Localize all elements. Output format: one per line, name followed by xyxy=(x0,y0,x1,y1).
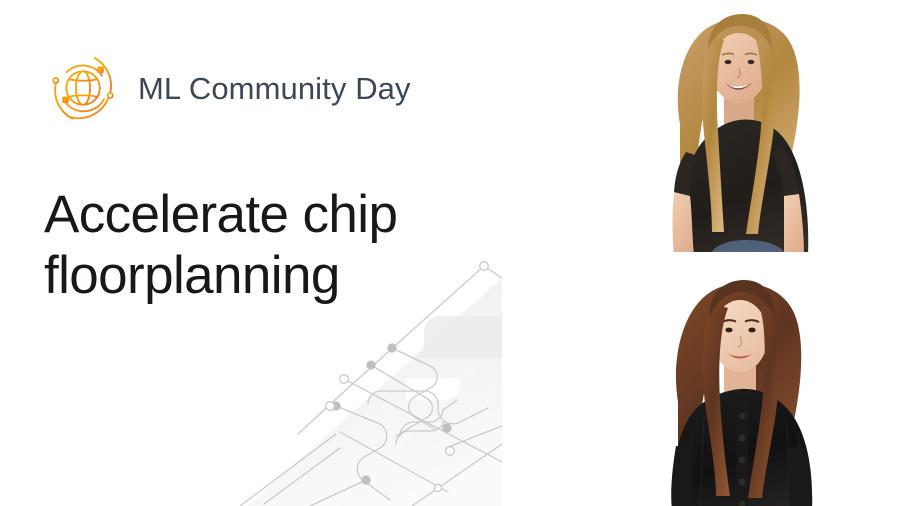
speaker-tile-1 xyxy=(620,0,900,252)
speaker-portrait-blonde-black-tshirt xyxy=(620,6,900,252)
globe-orbit-icon xyxy=(40,45,126,131)
decoration-background-bands xyxy=(248,278,502,506)
speaker-tile-2 xyxy=(620,262,900,506)
slide-title-line-2: floorplanning xyxy=(44,245,564,306)
presentation-slide: ML Community Day Accelerate chip floorpl… xyxy=(0,0,900,506)
slide-title-line-1: Accelerate chip xyxy=(44,184,564,245)
brand-lockup: ML Community Day xyxy=(40,44,411,132)
portrait-2-sleeve-left xyxy=(671,446,694,506)
slide-title: Accelerate chip floorplanning xyxy=(44,184,564,307)
decoration-nodes-filled xyxy=(331,343,451,484)
brand-name: ML Community Day xyxy=(138,73,411,104)
speaker-portrait-auburn-black-cardigan xyxy=(620,270,900,506)
